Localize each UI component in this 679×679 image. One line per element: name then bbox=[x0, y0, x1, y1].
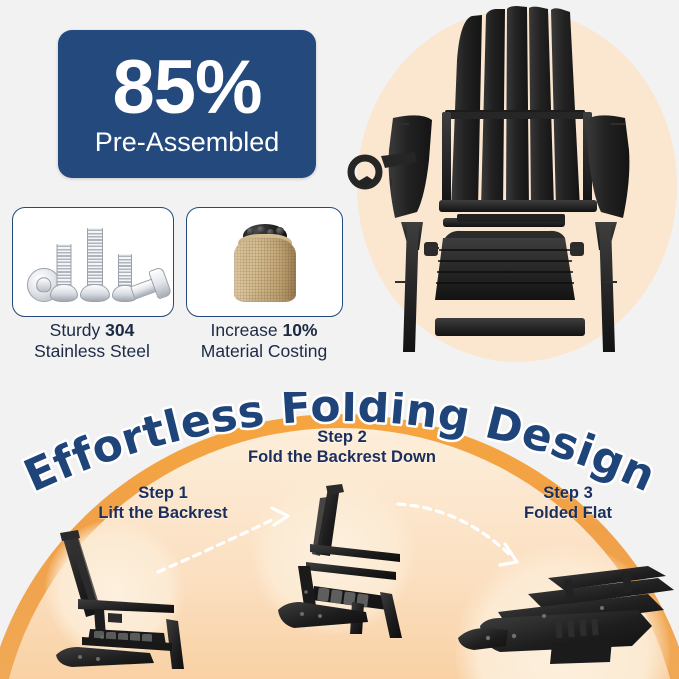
screw-1-icon bbox=[51, 244, 77, 302]
burlap-sack-image bbox=[232, 224, 298, 302]
step-number: Step 3 bbox=[468, 484, 668, 504]
seat-assembly bbox=[424, 218, 584, 300]
chair-mid-fold-view bbox=[270, 482, 430, 642]
pre-assembled-badge: 85% Pre-Assembled bbox=[58, 30, 316, 178]
badge-percent: 85% bbox=[112, 52, 261, 124]
caption-line1-strong: 304 bbox=[105, 320, 134, 340]
product-infographic: 85% Pre-Assembled bbox=[0, 0, 679, 679]
caption-line1-strong: 10% bbox=[282, 320, 317, 340]
step-label-1: Step 1 Lift the Backrest bbox=[52, 484, 274, 524]
sack-body bbox=[234, 238, 296, 302]
step-text: Lift the Backrest bbox=[52, 504, 274, 524]
step-text: Fold the Backrest Down bbox=[202, 448, 482, 468]
caption-line1-prefix: Increase bbox=[210, 320, 282, 340]
step-number: Step 2 bbox=[202, 428, 482, 448]
chair-folded-flat-view bbox=[452, 560, 678, 679]
stainless-screws-image bbox=[13, 208, 173, 316]
caption-line2: Stainless Steel bbox=[34, 341, 150, 361]
exploded-adirondack-chair bbox=[339, 0, 679, 372]
feature-card-screws bbox=[12, 207, 174, 317]
feature-caption-material: Increase 10% Material Costing bbox=[180, 320, 348, 363]
screw-2-icon bbox=[81, 228, 109, 302]
badge-subtitle: Pre-Assembled bbox=[95, 128, 280, 158]
chair-upright-side-view bbox=[42, 527, 207, 677]
caption-line2: Material Costing bbox=[201, 341, 327, 361]
step-number: Step 1 bbox=[52, 484, 274, 504]
backrest-slats bbox=[451, 6, 584, 210]
step-label-3: Step 3 Folded Flat bbox=[468, 484, 668, 524]
feature-card-material bbox=[186, 207, 343, 317]
folding-design-section: Step 1 Lift the Backrest Step 2 Fold the… bbox=[0, 392, 679, 679]
caption-line1-prefix: Sturdy bbox=[50, 320, 105, 340]
step-text: Folded Flat bbox=[468, 504, 668, 524]
feature-caption-screws: Sturdy 304 Stainless Steel bbox=[4, 320, 180, 363]
step-label-2: Step 2 Fold the Backrest Down bbox=[202, 428, 482, 468]
